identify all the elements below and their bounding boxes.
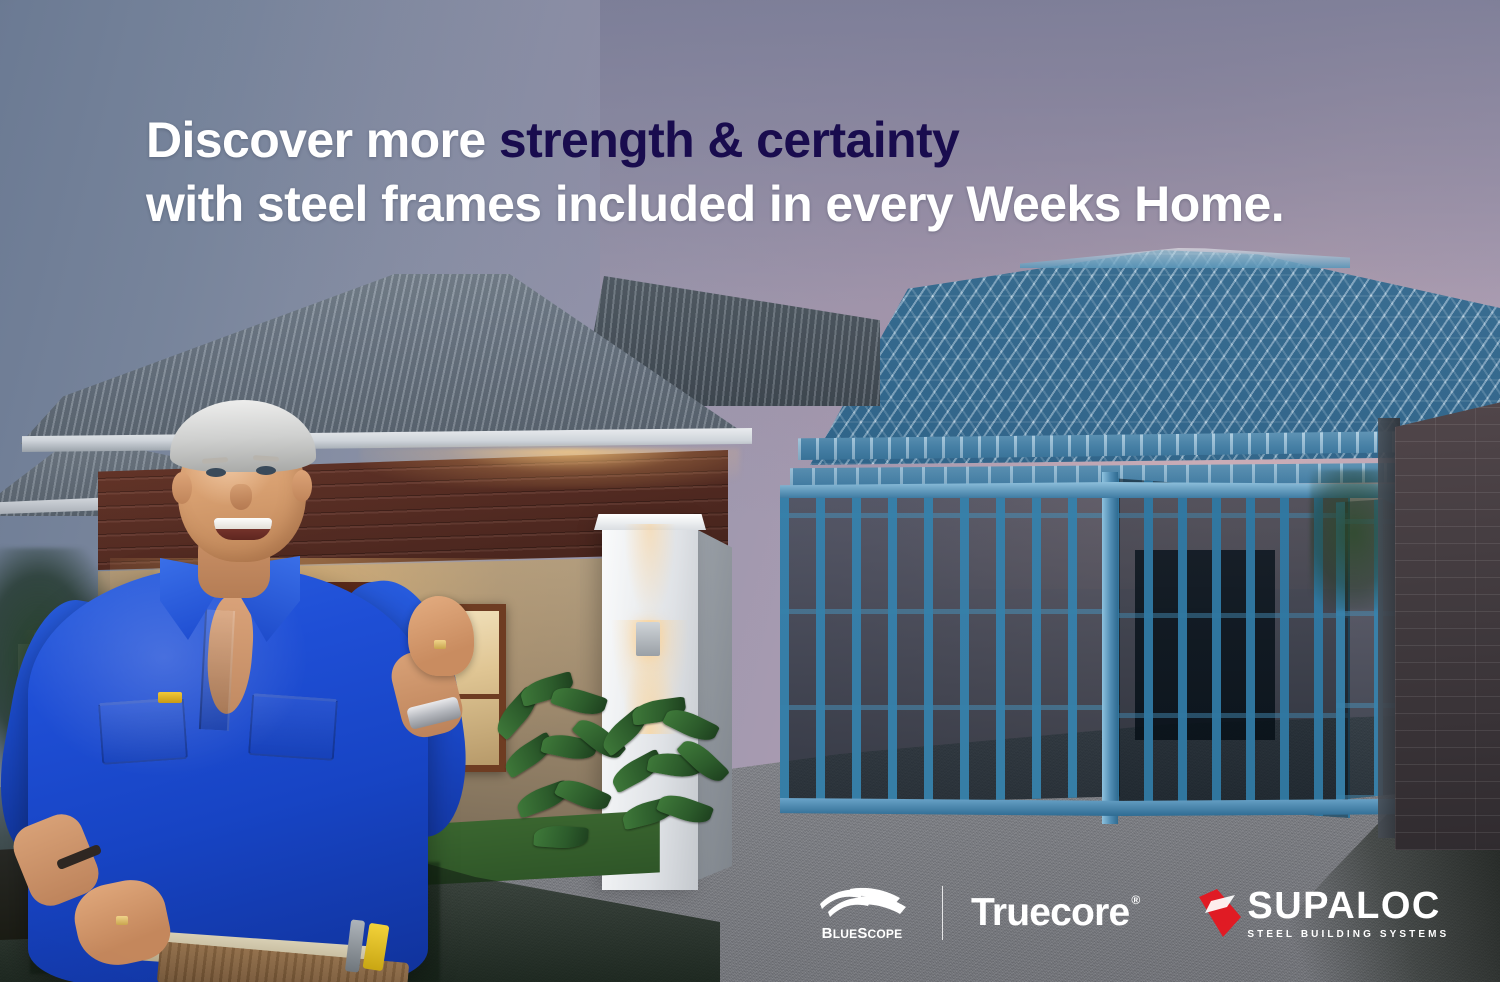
shirt-brand-tag xyxy=(158,692,182,703)
headline-accent-text: strength & certainty xyxy=(499,112,959,168)
logo-divider xyxy=(942,886,943,940)
feature-plant-right xyxy=(596,700,726,880)
presenter-man xyxy=(10,400,480,982)
supaloc-wordmark: SUPALOC xyxy=(1247,887,1449,925)
shirt-placket xyxy=(199,609,235,730)
supaloc-slash-icon xyxy=(1197,887,1243,939)
presenter-thumb-gesture-hand xyxy=(408,596,474,676)
truss-ridge-beam xyxy=(1020,248,1350,268)
bluescope-wordmark: BLUESCOPE xyxy=(822,925,903,942)
bluescope-logo: BLUESCOPE xyxy=(812,885,912,942)
headline-line-1-plain: Discover more xyxy=(146,112,499,168)
bluescope-wave-icon xyxy=(816,885,908,923)
presenter-ear-right xyxy=(292,470,312,502)
headline-line-1: Discover more strength & certainty xyxy=(146,108,1346,172)
presenter-ear-left xyxy=(172,472,192,504)
supaloc-text-block: SUPALOC STEEL BUILDING SYSTEMS xyxy=(1247,887,1449,940)
banner-root: Discover more strength & certainty with … xyxy=(0,0,1500,982)
presenter-ring-right xyxy=(434,640,446,649)
presenter-eye-right xyxy=(256,466,276,475)
pillar-wall-lamp xyxy=(636,622,660,656)
supaloc-logo: SUPALOC STEEL BUILDING SYSTEMS xyxy=(1197,887,1449,940)
steel-corner-post xyxy=(1102,472,1118,824)
steel-wall-frame-left xyxy=(780,486,1120,806)
supaloc-tagline: STEEL BUILDING SYSTEMS xyxy=(1247,929,1449,940)
headline: Discover more strength & certainty with … xyxy=(146,108,1346,236)
shirt-pocket-left xyxy=(98,697,188,765)
truecore-logo: Truecore® xyxy=(971,891,1139,935)
presenter-teeth xyxy=(214,518,272,529)
headline-line-2: with steel frames included in every Week… xyxy=(146,172,1346,236)
shirt-pocket-right xyxy=(248,693,338,761)
presenter-hair xyxy=(170,400,316,472)
presenter-nose xyxy=(230,484,252,510)
truecore-trademark: ® xyxy=(1131,893,1139,907)
presenter-ring-left xyxy=(116,916,128,925)
brick-wall xyxy=(1395,400,1500,850)
truecore-wordmark: Truecore xyxy=(971,891,1129,935)
presenter-mouth xyxy=(214,518,272,540)
partner-logo-bar: BLUESCOPE Truecore® SUPALOC STEEL BUILDI… xyxy=(812,876,1449,950)
presenter-eye-left xyxy=(206,468,226,477)
